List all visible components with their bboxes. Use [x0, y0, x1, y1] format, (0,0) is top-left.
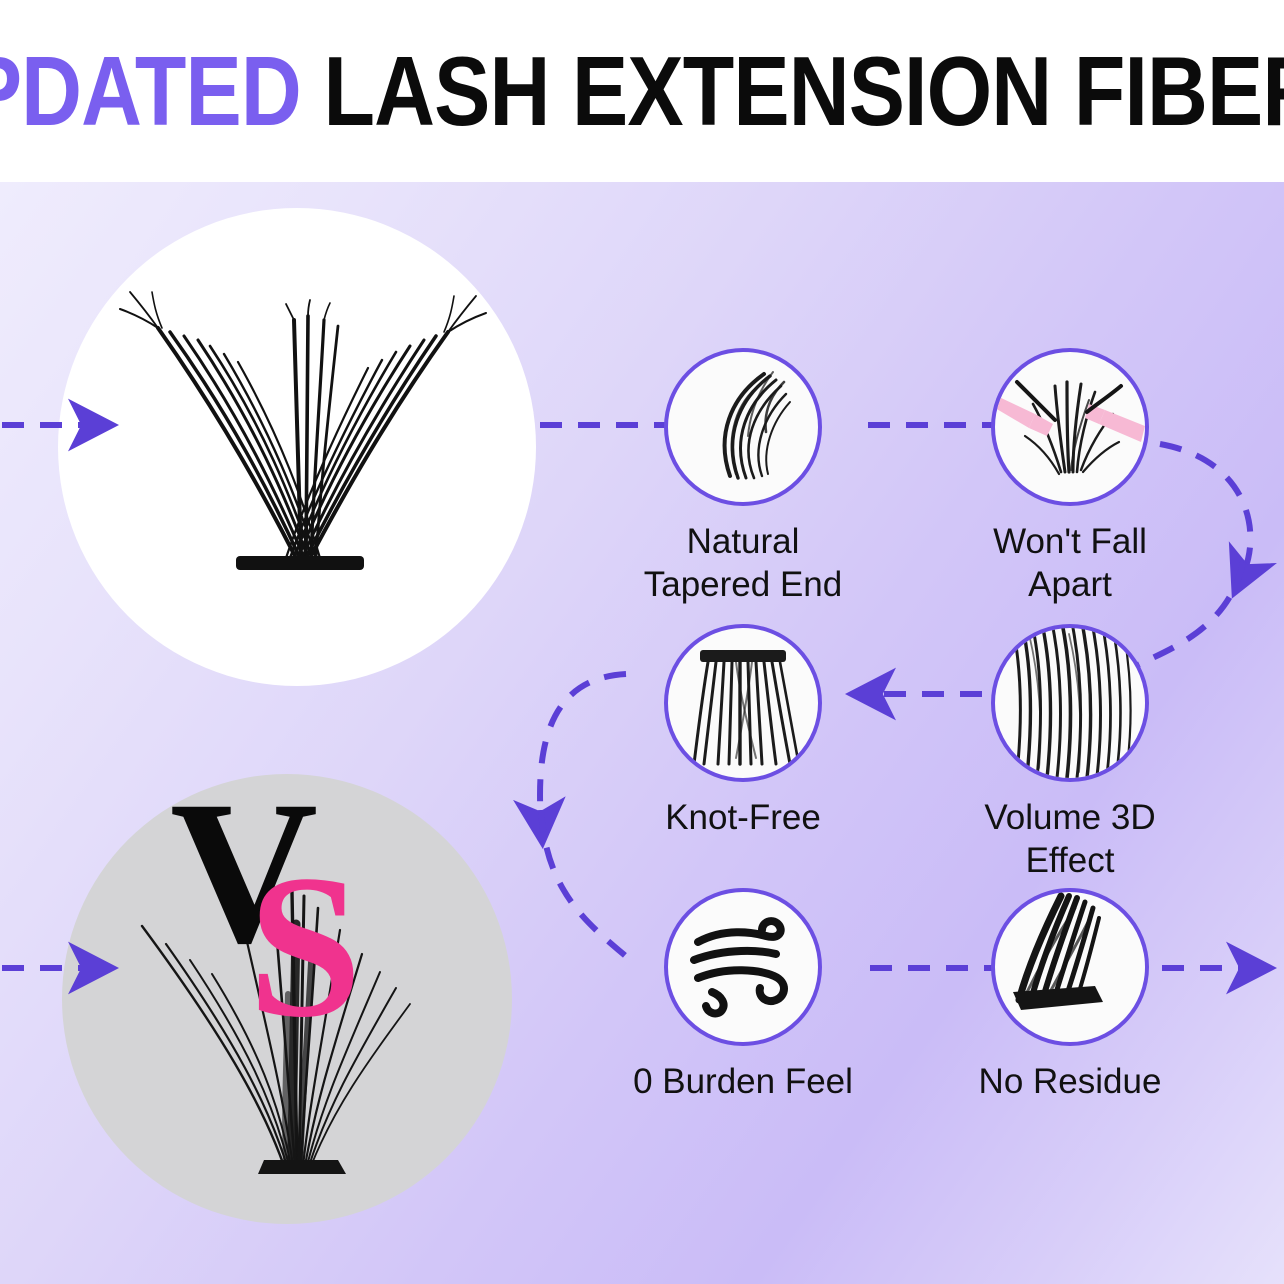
- page-header: UPDATED LASH EXTENSION FIBERS: [0, 0, 1284, 182]
- feature-wont-fall-apart[interactable]: Won't Fall Apart: [954, 348, 1186, 606]
- comparison-diagram: V S: [0, 182, 1284, 1284]
- feature-label: Volume 3D Effect: [954, 796, 1186, 882]
- feature-zero-burden-feel[interactable]: 0 Burden Feel: [627, 888, 859, 1103]
- feature-label: 0 Burden Feel: [627, 1060, 859, 1103]
- lash-band-strands-icon: [664, 624, 822, 782]
- feature-label: Natural Tapered End: [627, 520, 859, 606]
- feature-natural-tapered-end[interactable]: Natural Tapered End: [627, 348, 859, 606]
- lash-tapered-tips-icon: [664, 348, 822, 506]
- lash-fan-cluster-icon: [58, 208, 536, 686]
- title-highlight-word: UPDATED: [0, 36, 301, 146]
- title-rest-words: LASH EXTENSION FIBERS: [301, 36, 1284, 146]
- updated-fiber-circle: [58, 208, 536, 686]
- feature-label: Won't Fall Apart: [954, 520, 1186, 606]
- tweezers-pulling-lash-icon: [991, 348, 1149, 506]
- feature-label: Knot-Free: [627, 796, 859, 839]
- old-fiber-circle: [62, 774, 512, 1224]
- feature-label: No Residue: [954, 1060, 1186, 1103]
- lash-strip-band-icon: [991, 888, 1149, 1046]
- page-title: UPDATED LASH EXTENSION FIBERS: [0, 42, 1284, 140]
- feature-knot-free[interactable]: Knot-Free: [627, 624, 859, 839]
- feature-no-residue[interactable]: No Residue: [954, 888, 1186, 1103]
- wind-breeze-icon: [664, 888, 822, 1046]
- feature-volume-3d-effect[interactable]: Volume 3D Effect: [954, 624, 1186, 882]
- lash-volume-strands-icon: [991, 624, 1149, 782]
- lash-spiky-cluster-icon: [62, 774, 512, 1224]
